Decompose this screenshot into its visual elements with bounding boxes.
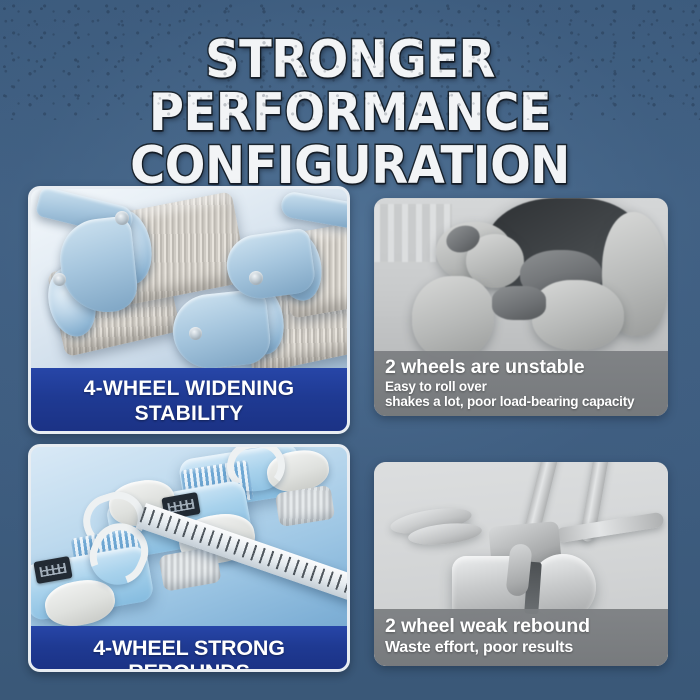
axle-bolt bbox=[249, 271, 263, 285]
panel-two-wheel-weak-rebound: 2 wheel weak rebound Waste effort, poor … bbox=[374, 462, 668, 666]
caption-sub-2: shakes a lot, poor load-bearing capacity bbox=[385, 394, 668, 409]
axle-bolt bbox=[53, 273, 66, 286]
caption-heading: 2 wheels are unstable bbox=[385, 356, 668, 379]
panel-two-wheels-unstable: 2 wheels are unstable Easy to roll over … bbox=[374, 198, 668, 416]
label-line-1: 4-WHEEL WIDENING bbox=[30, 376, 348, 401]
caption-heading: 2 wheel weak rebound bbox=[385, 614, 668, 638]
label-four-wheel-rebounds: 4-WHEEL STRONG REBOUNDS bbox=[30, 626, 348, 670]
wheel-arm bbox=[169, 288, 272, 372]
caption-sub-1: Waste effort, poor results bbox=[385, 638, 668, 657]
label-line-1: 4-WHEEL STRONG REBOUNDS bbox=[30, 636, 348, 672]
caption-two-wheel-weak-rebound: 2 wheel weak rebound Waste effort, poor … bbox=[374, 609, 668, 666]
axle-bolt bbox=[115, 211, 129, 225]
caption-sub-1: Easy to roll over bbox=[385, 379, 668, 394]
caption-two-wheels-unstable: 2 wheels are unstable Easy to roll over … bbox=[374, 351, 668, 416]
axle-bolt bbox=[189, 327, 202, 340]
strap-shape bbox=[492, 286, 546, 320]
panel-four-wheel-stability: 4-WHEEL WIDENING STABILITY bbox=[28, 186, 350, 434]
knee-shape bbox=[532, 280, 624, 350]
roller-wheel bbox=[275, 485, 336, 527]
title-line-1: STRONGER PERFORMANCE bbox=[28, 34, 672, 140]
handle-bar-shape bbox=[555, 512, 664, 544]
wheel-arm bbox=[279, 190, 350, 229]
label-line-2: STABILITY bbox=[30, 401, 348, 426]
label-four-wheel-stability: 4-WHEEL WIDENING STABILITY bbox=[30, 368, 348, 432]
panel-four-wheel-rebounds: 4-WHEEL STRONG REBOUNDS bbox=[28, 444, 350, 672]
product-infographic-poster: STRONGER PERFORMANCE CONFIGURATION bbox=[0, 0, 700, 700]
poster-title: STRONGER PERFORMANCE CONFIGURATION bbox=[0, 34, 700, 193]
roller-wheel-shape bbox=[412, 276, 494, 360]
